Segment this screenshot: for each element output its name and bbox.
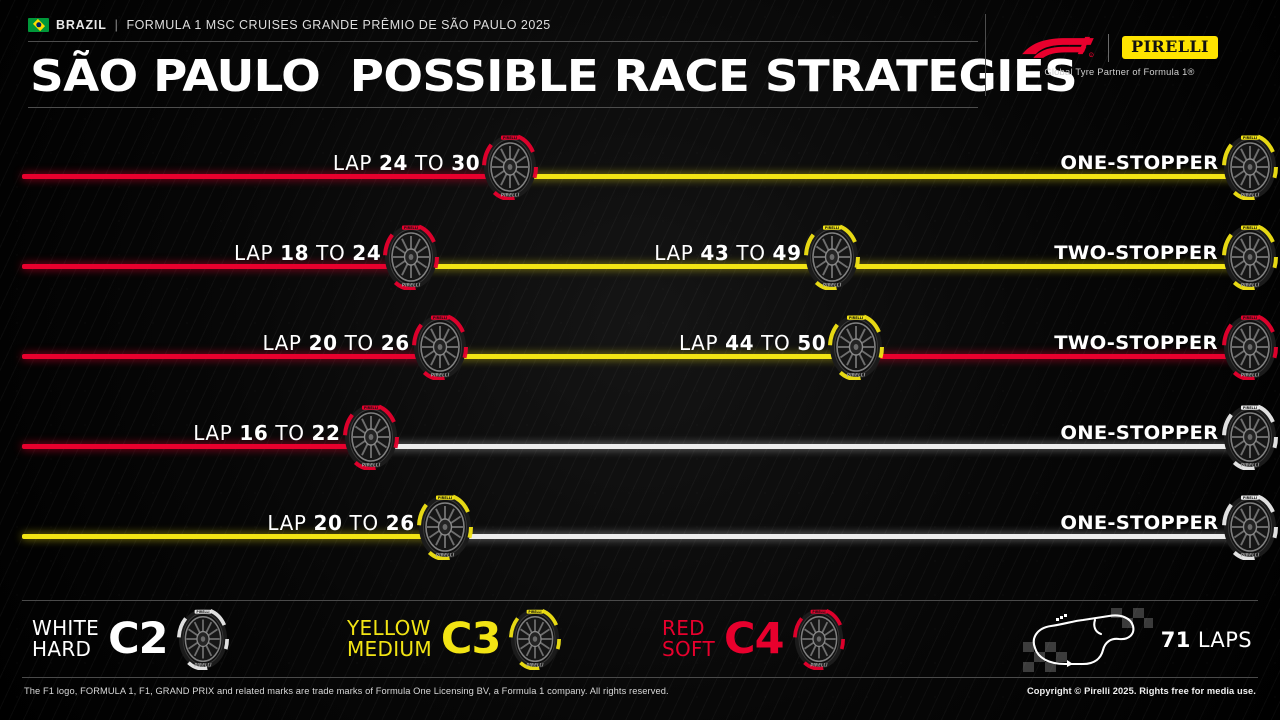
svg-text:PIRELLI: PIRELLI <box>1243 406 1257 410</box>
f1-logo-icon: R <box>1021 35 1095 61</box>
pit-stop-lap-label: LAP 24 TO 30 <box>333 148 480 178</box>
strategy-row: PIRELLI PIRELLI LAP 20 TO 26 PIRELLI PIR… <box>0 300 1280 390</box>
legend-compound-words: WHITEHARD <box>32 618 99 660</box>
laps-label: 71 LAPS <box>1161 628 1252 652</box>
footer-trademark-text: The F1 logo, FORMULA 1, F1, GRAND PRIX a… <box>24 686 669 696</box>
svg-text:PIRELLI: PIRELLI <box>847 373 866 379</box>
pit-stop-lap-label: LAP 16 TO 22 <box>193 418 340 448</box>
svg-text:PIRELLI: PIRELLI <box>402 283 421 289</box>
final-tyre-soft: PIRELLI PIRELLI <box>1222 314 1278 380</box>
partner-line: Global Tyre Partner of Formula 1® <box>1044 67 1194 77</box>
legend-tyre-icon-soft: PIRELLI PIRELLI <box>793 608 845 670</box>
svg-text:PIRELLI: PIRELLI <box>1241 463 1260 469</box>
pit-stop-tyre-medium: PIRELLI PIRELLI <box>804 224 860 290</box>
strategy-row: PIRELLI PIRELLI LAP 24 TO 30 PIRELLI PIR… <box>0 120 1280 210</box>
svg-text:PIRELLI: PIRELLI <box>363 406 377 410</box>
svg-text:PIRELLI: PIRELLI <box>194 662 212 667</box>
laps-word: LAPS <box>1198 628 1252 652</box>
grand-prix-label: FORMULA 1 MSC CRUISES GRANDE PRÊMIO DE S… <box>126 18 550 32</box>
svg-text:PIRELLI: PIRELLI <box>1241 373 1260 379</box>
legend-type-word: HARD <box>32 639 99 660</box>
legend-compound-code: C3 <box>441 618 500 661</box>
lap-from: 44 <box>725 331 754 355</box>
legend-type-word: SOFT <box>662 639 715 660</box>
svg-text:PIRELLI: PIRELLI <box>812 610 825 614</box>
svg-text:PIRELLI: PIRELLI <box>1241 553 1260 559</box>
lap-from: 20 <box>314 511 343 535</box>
strategy-type-label: TWO-STOPPER <box>1054 328 1218 358</box>
legend-compound-code: C2 <box>108 618 167 661</box>
final-tyre-medium: PIRELLI PIRELLI <box>1222 224 1278 290</box>
lap-to: 49 <box>773 241 802 265</box>
laps-count: 71 <box>1161 628 1191 652</box>
legend-compound-words: REDSOFT <box>662 618 715 660</box>
strategy-row: PIRELLI PIRELLI LAP 18 TO 24 PIRELLI PIR… <box>0 210 1280 300</box>
pit-stop-tyre-medium: PIRELLI PIRELLI <box>417 494 473 560</box>
svg-text:PIRELLI: PIRELLI <box>849 316 863 320</box>
title-subject: POSSIBLE RACE STRATEGIES <box>350 55 1077 99</box>
legend-type-word: MEDIUM <box>347 639 432 660</box>
pit-stop-lap-label: LAP 44 TO 50 <box>679 328 826 358</box>
lap-joiner: TO <box>275 421 304 445</box>
lap-from: 24 <box>379 151 408 175</box>
pit-stop-tyre-soft: PIRELLI PIRELLI <box>482 134 538 200</box>
pit-stop-lap-label: LAP 20 TO 26 <box>262 328 409 358</box>
lap-word: LAP <box>234 241 273 265</box>
header: BRAZIL | FORMULA 1 MSC CRUISES GRANDE PR… <box>0 0 1280 110</box>
svg-text:PIRELLI: PIRELLI <box>433 316 447 320</box>
svg-text:PIRELLI: PIRELLI <box>431 373 450 379</box>
svg-text:PIRELLI: PIRELLI <box>196 610 209 614</box>
svg-text:PIRELLI: PIRELLI <box>1241 193 1260 199</box>
lap-from: 20 <box>309 331 338 355</box>
svg-text:PIRELLI: PIRELLI <box>435 553 454 559</box>
lap-word: LAP <box>679 331 718 355</box>
legend-tyre-icon-hard: PIRELLI PIRELLI <box>177 608 229 670</box>
final-tyre-hard: PIRELLI PIRELLI <box>1222 404 1278 470</box>
lap-word: LAP <box>333 151 372 175</box>
legend-compound-c4: REDSOFTC4 PIRELLI PIRELLI <box>662 608 845 670</box>
legend-compound-code: C4 <box>724 618 783 661</box>
svg-text:R: R <box>1090 53 1092 57</box>
title-location: SÃO PAULO <box>30 55 320 99</box>
pirelli-logo: PIRELLI <box>1122 36 1218 59</box>
lap-joiner: TO <box>345 331 374 355</box>
svg-text:PIRELLI: PIRELLI <box>824 226 838 230</box>
pit-stop-lap-label: LAP 43 TO 49 <box>654 238 801 268</box>
strategy-row: PIRELLI PIRELLI LAP 20 TO 26 PIRELLI PIR… <box>0 480 1280 570</box>
eyebrow-separator: | <box>115 18 119 32</box>
lap-joiner: TO <box>761 331 790 355</box>
svg-text:PIRELLI: PIRELLI <box>1243 226 1257 230</box>
footer-copyright-text: Copyright © Pirelli 2025. Rights free fo… <box>1027 686 1256 696</box>
svg-text:PIRELLI: PIRELLI <box>527 662 545 667</box>
legend-compound-c2: WHITEHARDC2 PIRELLI PIRELLI <box>32 608 229 670</box>
lap-word: LAP <box>262 331 301 355</box>
strategy-type-label: ONE-STOPPER <box>1060 148 1218 178</box>
svg-text:PIRELLI: PIRELLI <box>1243 136 1257 140</box>
lap-to: 22 <box>312 421 341 445</box>
pit-stop-tyre-soft: PIRELLI PIRELLI <box>412 314 468 380</box>
header-logos: R PIRELLI Global Tyre Partner of Formula… <box>985 14 1253 96</box>
lap-word: LAP <box>654 241 693 265</box>
svg-text:PIRELLI: PIRELLI <box>1243 496 1257 500</box>
svg-text:PIRELLI: PIRELLI <box>438 496 452 500</box>
pit-stop-tyre-soft: PIRELLI PIRELLI <box>343 404 399 470</box>
legend-compound-c3: YELLOWMEDIUMC3 PIRELLI PIRELLI <box>347 608 561 670</box>
compound-legend: WHITEHARDC2 PIRELLI PIRELLI YELLOWMEDIUM… <box>22 600 1258 678</box>
svg-text:PIRELLI: PIRELLI <box>529 610 542 614</box>
legend-colour-word: RED <box>662 618 715 639</box>
strategy-list: PIRELLI PIRELLI LAP 24 TO 30 PIRELLI PIR… <box>0 120 1280 590</box>
poster-root: BRAZIL | FORMULA 1 MSC CRUISES GRANDE PR… <box>0 0 1280 720</box>
pit-stop-tyre-medium: PIRELLI PIRELLI <box>828 314 884 380</box>
legend-colour-word: YELLOW <box>347 618 432 639</box>
svg-text:PIRELLI: PIRELLI <box>361 463 380 469</box>
lap-joiner: TO <box>316 241 345 265</box>
pit-stop-lap-label: LAP 20 TO 26 <box>267 508 414 538</box>
strategy-type-label: ONE-STOPPER <box>1060 508 1218 538</box>
lap-word: LAP <box>193 421 232 445</box>
logo-row: R PIRELLI <box>1021 34 1218 62</box>
lap-to: 26 <box>386 511 415 535</box>
lap-joiner: TO <box>415 151 444 175</box>
header-rule-bottom <box>28 107 978 108</box>
pit-stop-lap-label: LAP 18 TO 24 <box>234 238 381 268</box>
lap-from: 18 <box>280 241 309 265</box>
lap-joiner: TO <box>350 511 379 535</box>
lap-to: 50 <box>797 331 826 355</box>
header-left: BRAZIL | FORMULA 1 MSC CRUISES GRANDE PR… <box>28 14 978 108</box>
legend-colour-word: WHITE <box>32 618 99 639</box>
legend-tyre-icon-medium: PIRELLI PIRELLI <box>509 608 561 670</box>
lap-to: 26 <box>381 331 410 355</box>
lap-joiner: TO <box>736 241 765 265</box>
svg-text:PIRELLI: PIRELLI <box>404 226 418 230</box>
svg-text:PIRELLI: PIRELLI <box>1241 283 1260 289</box>
legend-compound-words: YELLOWMEDIUM <box>347 618 432 660</box>
page-title: SÃO PAULO POSSIBLE RACE STRATEGIES <box>28 42 1035 107</box>
interlagos-circuit-map-icon <box>1023 608 1153 672</box>
lap-to: 30 <box>451 151 480 175</box>
lap-from: 43 <box>700 241 729 265</box>
final-tyre-medium: PIRELLI PIRELLI <box>1222 134 1278 200</box>
country-label: BRAZIL <box>56 18 107 32</box>
brazil-flag-icon <box>28 18 49 32</box>
strategy-type-label: TWO-STOPPER <box>1054 238 1218 268</box>
svg-text:PIRELLI: PIRELLI <box>501 193 520 199</box>
svg-text:PIRELLI: PIRELLI <box>810 662 828 667</box>
strategy-row: PIRELLI PIRELLI LAP 16 TO 22 PIRELLI PIR… <box>0 390 1280 480</box>
lap-from: 16 <box>239 421 268 445</box>
footer: The F1 logo, FORMULA 1, F1, GRAND PRIX a… <box>0 686 1280 710</box>
lap-word: LAP <box>267 511 306 535</box>
svg-text:PIRELLI: PIRELLI <box>822 283 841 289</box>
pit-stop-tyre-soft: PIRELLI PIRELLI <box>383 224 439 290</box>
svg-text:PIRELLI: PIRELLI <box>1243 316 1257 320</box>
lap-to: 24 <box>352 241 381 265</box>
final-tyre-hard: PIRELLI PIRELLI <box>1222 494 1278 560</box>
race-distance: 71 LAPS <box>1023 605 1252 675</box>
event-eyebrow: BRAZIL | FORMULA 1 MSC CRUISES GRANDE PR… <box>28 14 978 36</box>
svg-text:PIRELLI: PIRELLI <box>503 136 517 140</box>
logo-divider <box>1108 34 1109 62</box>
strategy-type-label: ONE-STOPPER <box>1060 418 1218 448</box>
